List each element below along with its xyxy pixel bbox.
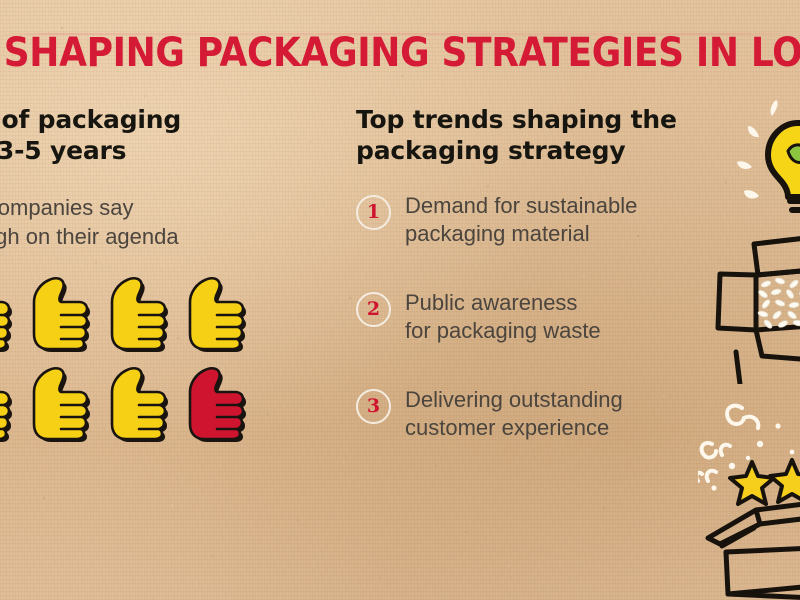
trend-number: 2 [367,300,380,319]
left-subheading-line2: ext 3-5 years [0,135,344,166]
trend-item: 3 Delivering outstanding customer experi… [356,386,696,442]
trend-label-line2: for packaging waste [405,317,601,345]
trend-label-line1: Delivering outstanding [405,386,623,414]
thumbs-up-row [0,272,263,352]
trend-number: 1 [367,203,380,222]
left-body-line1: f 10 companies say [0,193,344,222]
trend-label: Demand for sustainable packaging materia… [405,192,637,248]
thumbs-up-icon [187,272,250,352]
page-title: S SHAPING PACKAGING STRATEGIES IN LOG [0,33,758,73]
trends-heading: Top trends shaping the packaging strateg… [356,104,696,166]
thumbs-up-icon [109,272,172,352]
trend-item: 1 Demand for sustainable packaging mater… [356,192,696,248]
left-body-line2: is high on their agenda [0,222,344,251]
trends-list: 1 Demand for sustainable packaging mater… [356,192,696,442]
thumbs-up-icon [31,362,94,442]
thumbs-up-row [0,362,263,442]
thumbs-up-icon [0,272,16,352]
lightbulb-icon [706,96,800,226]
trend-number-badge: 3 [356,389,391,424]
trend-label-line2: customer experience [405,414,623,442]
trend-label-line1: Demand for sustainable [405,192,637,220]
right-panel: Top trends shaping the packaging strateg… [356,104,696,442]
open-box-with-packing-peanuts-icon [700,232,800,384]
thumbs-up-rating-group [0,272,263,442]
thumbs-up-icon-red [187,362,250,442]
trend-label: Public awareness for packaging waste [405,289,601,345]
infographic-canvas: S SHAPING PACKAGING STRATEGIES IN LOG nc… [0,0,800,600]
trend-item: 2 Public awareness for packaging waste [356,289,696,345]
trend-label-line2: packaging material [405,220,637,248]
stars-over-opening-box-icon [698,400,800,600]
trend-number: 3 [367,397,380,416]
left-subheading-line1: nce of packaging [0,104,344,135]
left-body-text: f 10 companies say is high on their agen… [0,193,344,251]
trends-heading-line2: packaging strategy [356,135,696,166]
trend-number-badge: 2 [356,292,391,327]
trend-number-badge: 1 [356,195,391,230]
thumbs-up-icon [0,362,16,442]
trends-heading-line1: Top trends shaping the [356,104,696,135]
trend-label: Delivering outstanding customer experien… [405,386,623,442]
thumbs-up-icon [31,272,94,352]
trend-label-line1: Public awareness [405,289,601,317]
thumbs-up-icon [109,362,172,442]
left-panel: nce of packaging ext 3-5 years f 10 comp… [0,104,344,251]
